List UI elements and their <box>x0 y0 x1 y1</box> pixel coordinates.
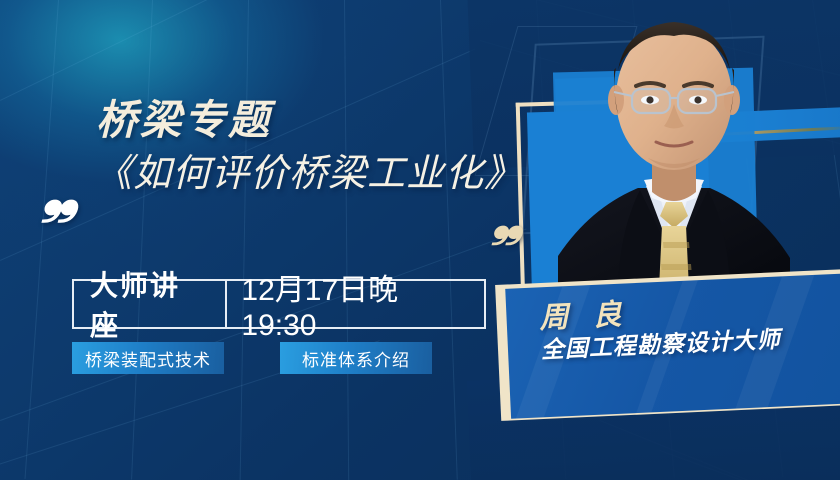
quote-close-icon: ❠ <box>492 198 519 244</box>
topic-tag: 标准体系介绍 <box>280 342 432 374</box>
topic-tag-label: 桥梁装配式技术 <box>85 346 211 371</box>
lecture-datetime-cell: 12月17日晚19:30 <box>227 281 484 327</box>
poster-subtitle: 《如何评价桥梁工业化》 <box>72 152 512 198</box>
topic-tag: 桥梁装配式技术 <box>72 342 224 374</box>
headline-block: 桥梁专题 《如何评价桥梁工业化》 <box>72 98 512 198</box>
lecture-label: 大师讲座 <box>90 264 209 344</box>
topic-tag-label: 标准体系介绍 <box>302 346 410 371</box>
lecture-datetime: 12月17日晚19:30 <box>241 265 472 343</box>
lecture-info-box: 大师讲座 12月17日晚19:30 <box>72 279 486 329</box>
poster-title: 桥梁专题 <box>72 98 512 144</box>
webinar-poster: ❠ 桥梁专题 《如何评价桥梁工业化》 ❠ 大师讲座 12月17日晚19:30 桥… <box>0 0 840 480</box>
lecture-label-cell: 大师讲座 <box>74 281 227 327</box>
speaker-portrait <box>556 10 792 310</box>
quote-open-icon: ❠ <box>42 168 74 222</box>
